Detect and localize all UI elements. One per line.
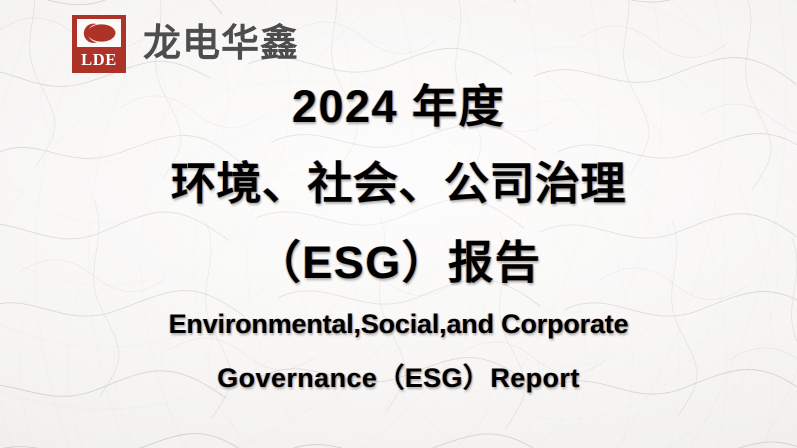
lde-ellipse-swoosh-icon (80, 22, 118, 44)
subtitle-line-en-1: Environmental,Social,and Corporate (0, 311, 797, 338)
cover-title-block: 2024 年度 环境、社会、公司治理 （ESG）报告 Environmental… (0, 84, 797, 392)
subtitle-line-en-2: Governance（ESG）Report (0, 365, 797, 392)
brand-lockup: LDE 龙电华鑫 (72, 15, 299, 73)
title-line-report-cn: （ESG）报告 (0, 240, 797, 285)
report-cover-slide: LDE 龙电华鑫 2024 年度 环境、社会、公司治理 （ESG）报告 Envi… (0, 0, 797, 448)
title-line-year: 2024 年度 (0, 84, 797, 129)
company-logo: LDE (72, 15, 126, 73)
logo-wordmark: LDE (81, 52, 117, 69)
logo-plate (77, 19, 121, 47)
company-name: 龙电华鑫 (143, 25, 299, 63)
title-line-esg-cn: 环境、社会、公司治理 (0, 161, 797, 206)
